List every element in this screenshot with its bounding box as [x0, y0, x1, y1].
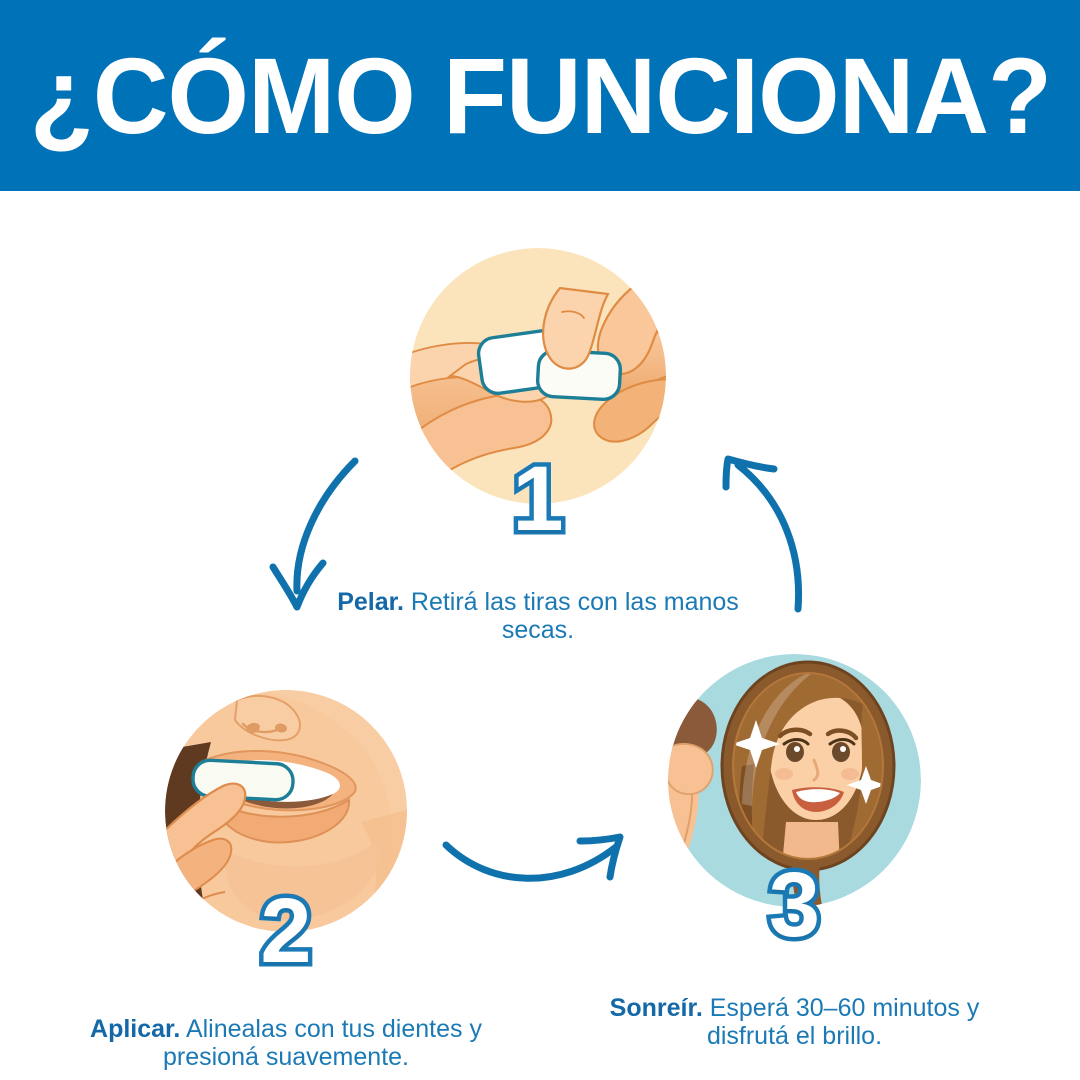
step-2-number: 2	[260, 885, 311, 977]
step-2-title: Aplicar.	[90, 1015, 180, 1043]
step-3-text: Esperá 30–60 minutos y disfrutá el brill…	[707, 994, 979, 1050]
steps-stage: 1 Pelar. Retirá las tiras con las manos …	[0, 191, 1080, 1080]
step-1-text: Retirá las tiras con las manos secas.	[411, 588, 739, 644]
step-2: 2 Aplicar. Alinealas con tus dientes y p…	[165, 690, 407, 932]
step-3-caption: Sonreír. Esperá 30–60 minutos y disfrutá…	[603, 994, 986, 1050]
arrow-step3-to-step1	[712, 449, 832, 624]
step-2-text: Alinealas con tus dientes y presioná sua…	[163, 1015, 482, 1071]
arrow-step2-to-step3	[440, 829, 640, 904]
arrow-step1-to-step2	[255, 449, 375, 624]
step-1-number: 1	[512, 453, 563, 545]
step-1: 1 Pelar. Retirá las tiras con las manos …	[410, 248, 666, 504]
step-2-caption: Aplicar. Alinealas con tus dientes y pre…	[70, 1015, 502, 1071]
step-3-title: Sonreír.	[610, 994, 703, 1022]
header-banner: ¿CÓMO FUNCIONA?	[0, 0, 1080, 191]
step-3: 3 Sonreír. Esperá 30–60 minutos y disfru…	[668, 654, 921, 907]
step-1-caption: Pelar. Retirá las tiras con las manos se…	[330, 588, 746, 644]
page-title: ¿CÓMO FUNCIONA?	[29, 42, 1050, 150]
step-3-number: 3	[769, 859, 820, 951]
